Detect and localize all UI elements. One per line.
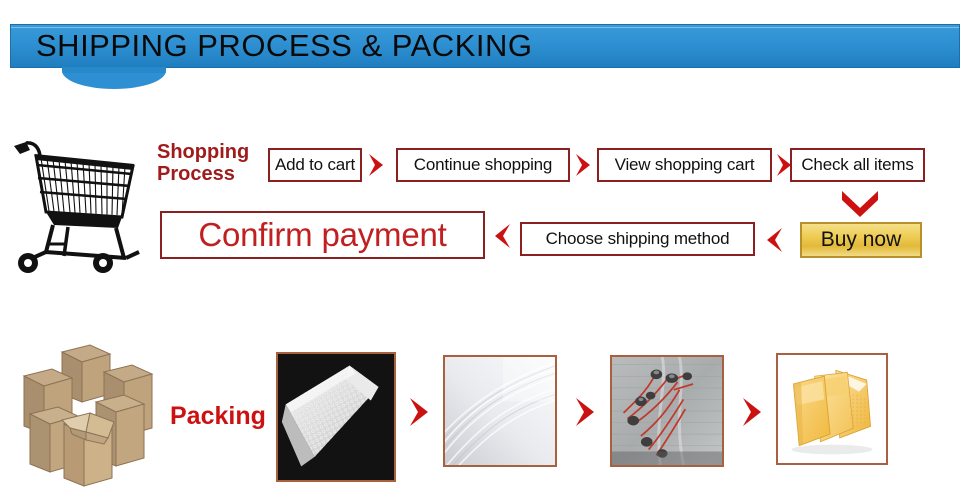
shopping-process-label: Shopping Process <box>157 141 267 185</box>
step-add-to-cart[interactable]: Add to cart <box>268 148 362 182</box>
step-choose-shipping-method[interactable]: Choose shipping method <box>520 222 755 256</box>
chevron-down-icon <box>840 188 880 218</box>
page-title: SHIPPING PROCESS & PACKING <box>36 25 532 67</box>
chevron-left-icon-2 <box>762 226 784 252</box>
step-continue-shopping[interactable]: Continue shopping <box>396 148 570 182</box>
chevron-right-icon-p2 <box>573 396 595 422</box>
banner-tab-shade <box>62 67 166 73</box>
cardboard-boxes-icon <box>12 340 172 495</box>
foam-sheets-photo <box>443 355 557 467</box>
chevron-right-icon-2 <box>573 152 595 178</box>
shipping-process-packing-infographic: SHIPPING PROCESS & PACKING <box>0 0 960 502</box>
chevron-right-icon-p1 <box>407 396 429 422</box>
buy-now-button[interactable]: Buy now <box>800 222 922 258</box>
chevron-right-icon-p3 <box>740 396 762 422</box>
banner-tab-notch <box>62 67 166 89</box>
bubble-wrap-roll-photo <box>276 352 396 482</box>
step-check-all-items[interactable]: Check all items <box>790 148 925 182</box>
bagged-components-photo <box>610 355 724 467</box>
packing-label: Packing <box>170 402 266 431</box>
chevron-left-icon-1 <box>490 222 512 248</box>
shopping-cart-icon <box>6 132 146 277</box>
chevron-right-icon-1 <box>366 152 388 178</box>
padded-envelopes-photo <box>776 353 888 465</box>
step-view-shopping-cart[interactable]: View shopping cart <box>597 148 772 182</box>
step-confirm-payment[interactable]: Confirm payment <box>160 211 485 259</box>
